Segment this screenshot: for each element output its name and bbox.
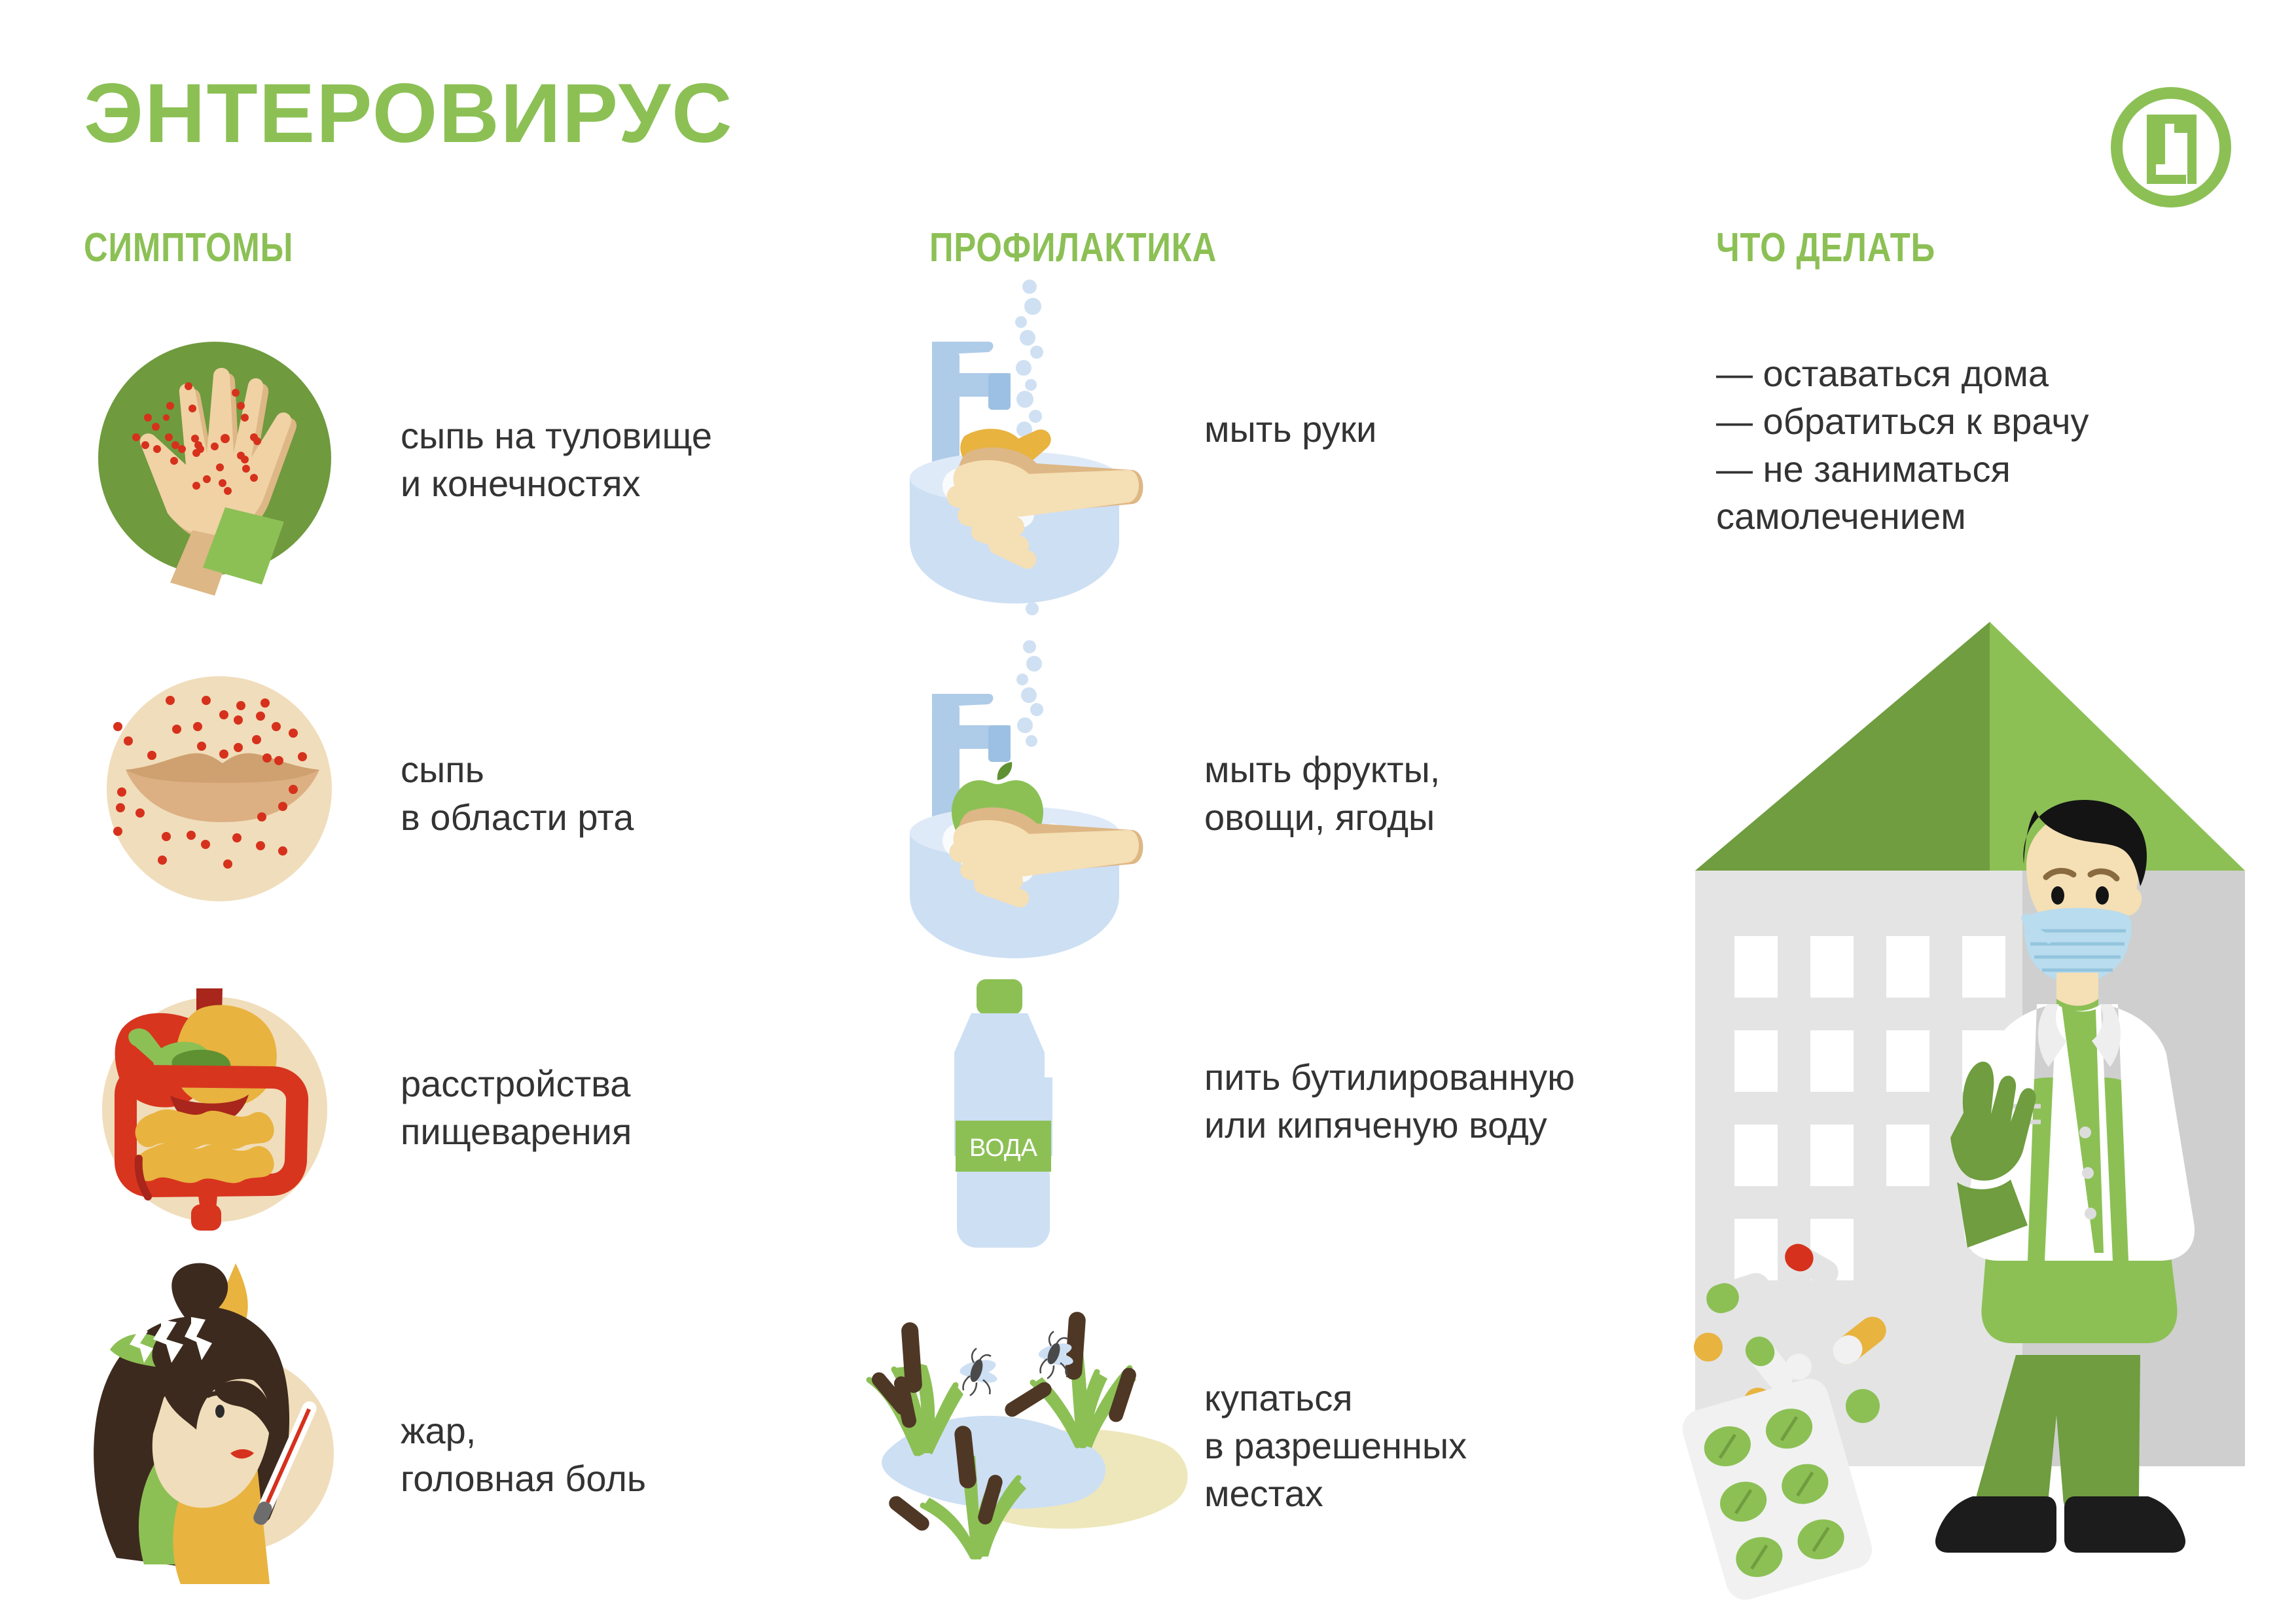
symptom-label-rash-body: сыпь на туловище и конечностях bbox=[401, 412, 806, 508]
symptom-label-digestive: расстройства пищеварения bbox=[401, 1060, 806, 1156]
prevention-label-swim: купаться в разрешенных местах bbox=[1204, 1375, 1662, 1517]
washing-fruit-icon bbox=[897, 641, 1158, 982]
symptom-label-rash-mouth: сыпь в области рта bbox=[401, 746, 806, 842]
page-title: ЭНТЕРОВИРУС bbox=[84, 72, 734, 156]
hand-with-rash-icon bbox=[97, 340, 346, 602]
column-heading-prevention: ПРОФИЛАКТИКА bbox=[929, 228, 1217, 268]
doctor-in-front-of-house-with-pills-icon bbox=[1662, 609, 2271, 1584]
actions-list: — оставаться дома — обратиться к врачу —… bbox=[1716, 350, 2214, 541]
water-bottle-icon: ВОДА bbox=[936, 975, 1086, 1263]
pond-with-reeds-icon bbox=[864, 1303, 1204, 1578]
logo-icon bbox=[2109, 85, 2233, 209]
action-item-stay-home: — оставаться дома bbox=[1716, 350, 2214, 398]
prevention-label-drink-water: пить бутилированную или кипяченую воду bbox=[1204, 1054, 1728, 1149]
column-heading-actions: ЧТО ДЕЛАТЬ bbox=[1716, 228, 1935, 268]
prevention-label-wash-hands: мыть руки bbox=[1204, 406, 1662, 454]
mouth-with-rash-icon bbox=[105, 674, 340, 910]
prevention-label-wash-produce: мыть фрукты, овощи, ягоды bbox=[1204, 746, 1662, 842]
action-item-no-selfmed: — не заниматься самолечением bbox=[1716, 446, 2214, 541]
mosquito-icon-1 bbox=[958, 1348, 998, 1396]
woman-fever-headache-icon bbox=[39, 1257, 353, 1584]
washing-hands-icon bbox=[897, 281, 1158, 622]
action-item-see-doctor: — обратиться к врачу bbox=[1716, 398, 2214, 446]
digestive-organs-icon bbox=[98, 995, 340, 1237]
bottle-label-text: ВОДА bbox=[969, 1134, 1038, 1162]
column-heading-symptoms: СИМПТОМЫ bbox=[84, 228, 293, 268]
infographic-poster: ЭНТЕРОВИРУС СИМПТОМЫ ПРОФИЛАКТИКА ЧТО ДЕ… bbox=[0, 0, 2296, 1624]
symptom-label-fever: жар, головная боль bbox=[401, 1407, 806, 1503]
